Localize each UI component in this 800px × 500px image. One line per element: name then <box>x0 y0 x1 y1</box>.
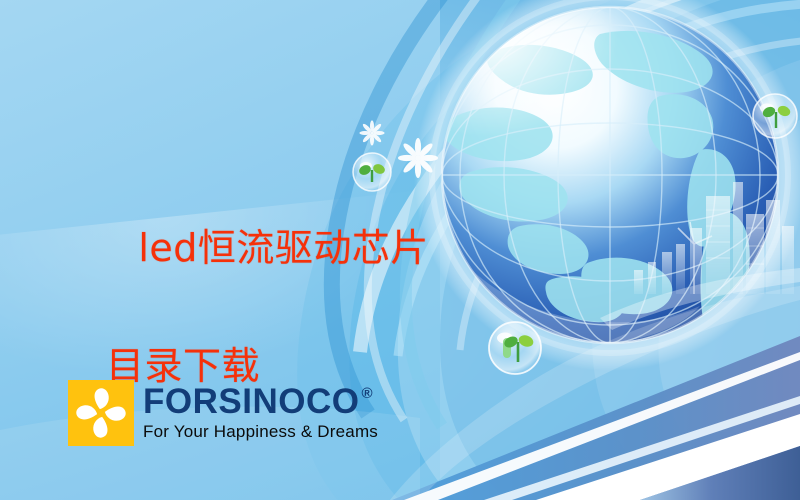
forsinoco-pinwheel-logomark <box>68 380 134 446</box>
brand-name-text: FORSINOCO <box>143 384 359 419</box>
pinwheel-flower-icon <box>68 380 134 446</box>
promotional-banner: led恒流驱动芯片 目录下载 FORSINOCO ® For Your Happ… <box>0 0 800 500</box>
brand-logo: FORSINOCO ® For Your Happiness & Dreams <box>68 380 378 446</box>
brand-tagline: For Your Happiness & Dreams <box>143 422 378 442</box>
flower-sparkle-small <box>359 120 384 145</box>
page-title: led恒流驱动芯片 目录下载 <box>88 160 429 500</box>
headline-line-1: led恒流驱动芯片 <box>138 226 429 270</box>
logo-wordmark: FORSINOCO ® For Your Happiness & Dreams <box>143 380 378 442</box>
bubble-green-sprout-right <box>753 94 797 138</box>
registered-trademark-symbol: ® <box>361 386 373 401</box>
brand-name: FORSINOCO ® <box>143 384 378 419</box>
bubble-green-sprout-lower <box>489 322 541 374</box>
